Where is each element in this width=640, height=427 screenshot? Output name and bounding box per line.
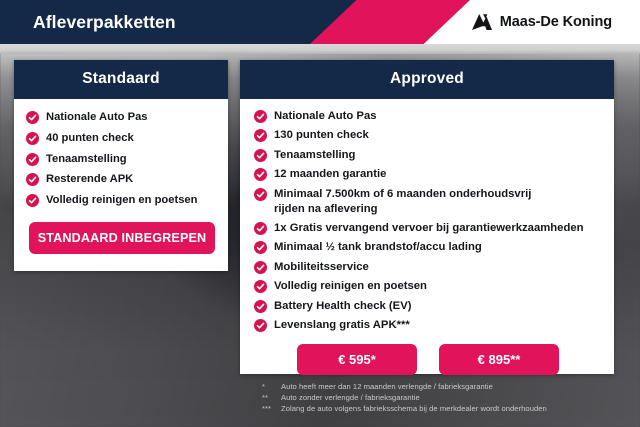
page-title: Afleverpakketten — [33, 0, 176, 44]
feature-label: 12 maanden garantie — [274, 167, 386, 182]
feature-label: Battery Health check (EV) — [274, 299, 412, 314]
list-item: Minimaal ½ tank brandstof/accu lading — [254, 240, 602, 255]
feature-label: Nationale Auto Pas — [46, 110, 148, 125]
check-circle-icon — [254, 300, 267, 313]
check-circle-icon — [254, 168, 267, 181]
check-circle-icon — [254, 110, 267, 123]
check-circle-icon — [26, 153, 39, 166]
footnote-marker: *** — [262, 403, 275, 414]
check-circle-icon — [26, 132, 39, 145]
footnote-marker: * — [262, 381, 275, 392]
footnote-text: Zolang de auto volgens fabrieksschema bi… — [281, 403, 622, 414]
list-item: Minimaal 7.500km of 6 maanden onderhouds… — [254, 187, 602, 217]
check-circle-icon — [26, 173, 39, 186]
check-circle-icon — [254, 129, 267, 142]
feature-label: 1x Gratis vervangend vervoer bij garanti… — [274, 221, 584, 236]
feature-label-multiline: Minimaal 7.500km of 6 maanden onderhouds… — [274, 187, 531, 217]
list-item: Levenslang gratis APK*** — [254, 318, 602, 333]
card-body-standaard: Nationale Auto Pas 40 punten check Tenaa… — [14, 99, 228, 271]
footnotes: * Auto heeft meer dan 12 maanden verleng… — [262, 381, 622, 415]
check-circle-icon — [254, 149, 267, 162]
price-button-row: € 595* € 895** — [254, 344, 602, 375]
list-item: Nationale Auto Pas — [26, 110, 218, 125]
feature-label: Resterende APK — [46, 172, 133, 187]
footnote-item: *** Zolang de auto volgens fabrieksschem… — [262, 403, 622, 414]
price-button-595[interactable]: € 595* — [297, 344, 417, 375]
check-circle-icon — [254, 222, 267, 235]
list-item: Resterende APK — [26, 172, 218, 187]
check-circle-icon — [26, 111, 39, 124]
page-header: Afleverpakketten Maas-De Koning — [0, 0, 640, 44]
list-item: 40 punten check — [26, 131, 218, 146]
feature-label: 40 punten check — [46, 131, 134, 146]
card-body-approved: Nationale Auto Pas 130 punten check Tena… — [240, 99, 614, 385]
feature-label-line-1: Minimaal 7.500km of 6 maanden onderhouds… — [274, 187, 531, 202]
maas-de-koning-m-logo-icon — [471, 13, 493, 31]
list-item: Mobiliteitsservice — [254, 260, 602, 275]
check-circle-icon — [254, 188, 267, 201]
feature-label: 130 punten check — [274, 128, 369, 143]
feature-label: Levenslang gratis APK*** — [274, 318, 410, 333]
feature-list-standaard: Nationale Auto Pas 40 punten check Tenaa… — [26, 110, 218, 208]
check-circle-icon — [254, 280, 267, 293]
slide-root: Afleverpakketten Maas-De Koning Standaar… — [0, 0, 640, 427]
list-item: Nationale Auto Pas — [254, 109, 602, 124]
list-item: Tenaamstelling — [254, 148, 602, 163]
footnote-item: ** Auto zonder verlengde / fabrieksgaran… — [262, 392, 622, 403]
check-circle-icon — [254, 319, 267, 332]
feature-label: Volledig reinigen en poetsen — [46, 193, 197, 208]
price-button-895[interactable]: € 895** — [439, 344, 559, 375]
feature-label-line-2: rijden na aflevering — [274, 202, 531, 217]
footnote-text: Auto heeft meer dan 12 maanden verlengde… — [281, 381, 622, 392]
package-card-approved: Approved Nationale Auto Pas 130 punten c… — [240, 60, 614, 374]
feature-label: Tenaamstelling — [46, 152, 127, 167]
feature-list-approved: Nationale Auto Pas 130 punten check Tena… — [254, 109, 602, 333]
feature-label: Nationale Auto Pas — [274, 109, 377, 124]
standaard-inbegrepen-button[interactable]: STANDAARD INBEGREPEN — [29, 222, 215, 254]
check-circle-icon — [254, 241, 267, 254]
feature-label: Volledig reinigen en poetsen — [274, 279, 427, 294]
card-heading-standaard: Standaard — [14, 60, 228, 99]
package-card-standaard: Standaard Nationale Auto Pas 40 punten c… — [14, 60, 228, 271]
list-item: 12 maanden garantie — [254, 167, 602, 182]
check-circle-icon — [26, 194, 39, 207]
list-item: Volledig reinigen en poetsen — [26, 193, 218, 208]
brand-lockup: Maas-De Koning — [471, 0, 612, 44]
list-item: Volledig reinigen en poetsen — [254, 279, 602, 294]
background-top-strip — [0, 44, 640, 54]
footnote-marker: ** — [262, 392, 275, 403]
feature-label: Tenaamstelling — [274, 148, 355, 163]
feature-label: Mobiliteitsservice — [274, 260, 369, 275]
list-item: 130 punten check — [254, 128, 602, 143]
list-item: Battery Health check (EV) — [254, 299, 602, 314]
footnote-item: * Auto heeft meer dan 12 maanden verleng… — [262, 381, 622, 392]
check-circle-icon — [254, 261, 267, 274]
brand-name: Maas-De Koning — [500, 14, 612, 30]
card-heading-approved: Approved — [240, 60, 614, 99]
feature-label: Minimaal ½ tank brandstof/accu lading — [274, 240, 482, 255]
footnote-text: Auto zonder verlengde / fabrieksgarantie — [281, 392, 622, 403]
list-item: 1x Gratis vervangend vervoer bij garanti… — [254, 221, 602, 236]
list-item: Tenaamstelling — [26, 152, 218, 167]
